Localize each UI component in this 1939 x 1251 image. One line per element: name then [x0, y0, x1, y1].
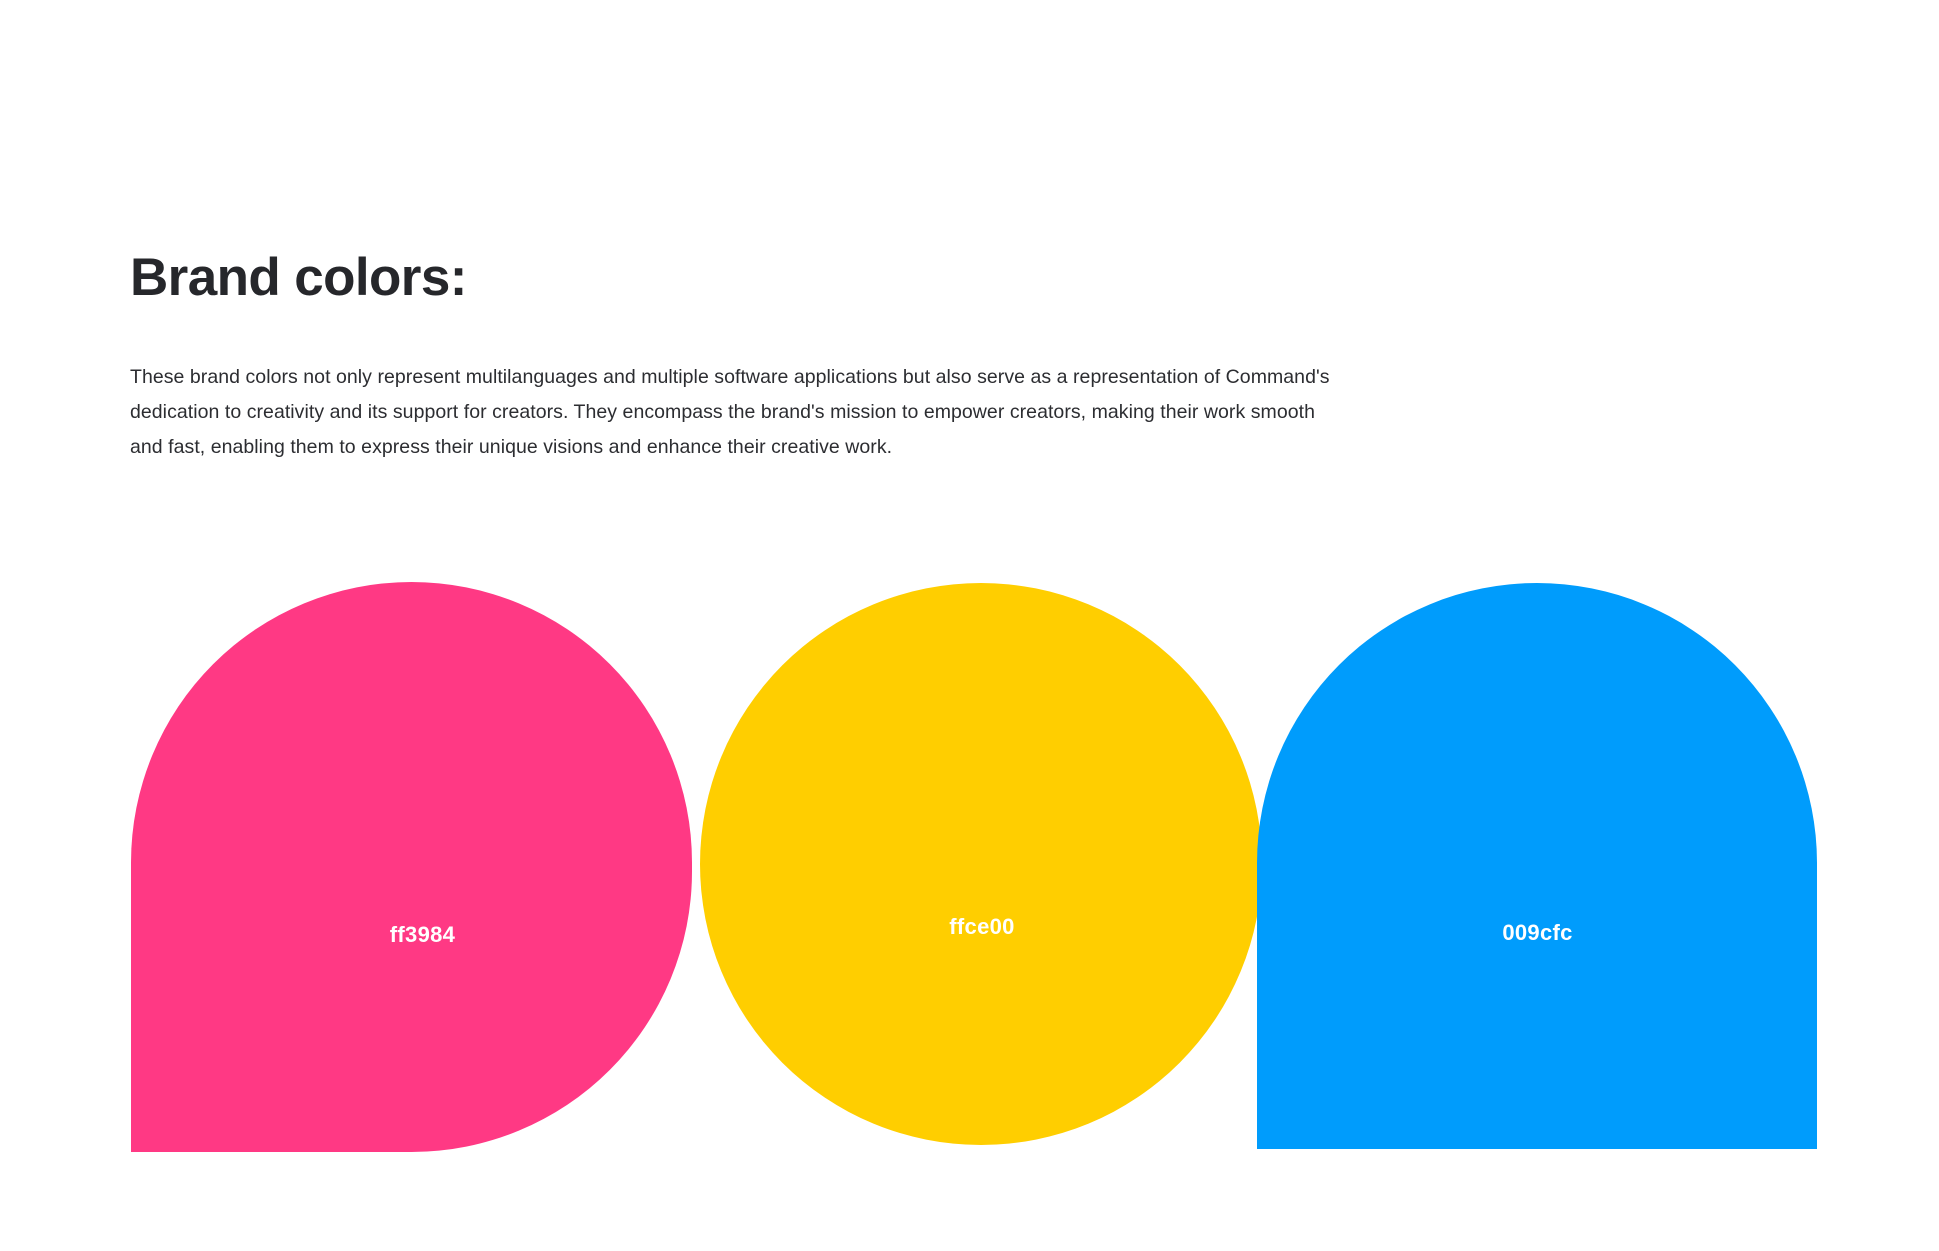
color-swatch-pink[interactable]: ff3984	[131, 582, 692, 1152]
color-swatch-pink-label: ff3984	[390, 922, 455, 948]
intro-paragraph-line-2: dedication to creativity and its support…	[130, 395, 1580, 430]
color-swatch-yellow[interactable]: ffce00	[700, 583, 1262, 1145]
intro-paragraph-line-1: These brand colors not only represent mu…	[130, 360, 1580, 395]
intro-paragraph-line-3: and fast, enabling them to express their…	[130, 430, 1580, 465]
intro-paragraph: These brand colors not only represent mu…	[130, 360, 1580, 465]
brand-color-swatch-row: ff3984 ffce00 009cfc	[0, 0, 1939, 1251]
color-swatch-blue[interactable]: 009cfc	[1257, 583, 1817, 1149]
color-swatch-blue-label: 009cfc	[1502, 920, 1572, 946]
brand-colors-page: Brand colors: These brand colors not onl…	[0, 0, 1939, 1251]
color-swatch-yellow-label: ffce00	[949, 914, 1014, 940]
page-title: Brand colors:	[130, 248, 467, 309]
